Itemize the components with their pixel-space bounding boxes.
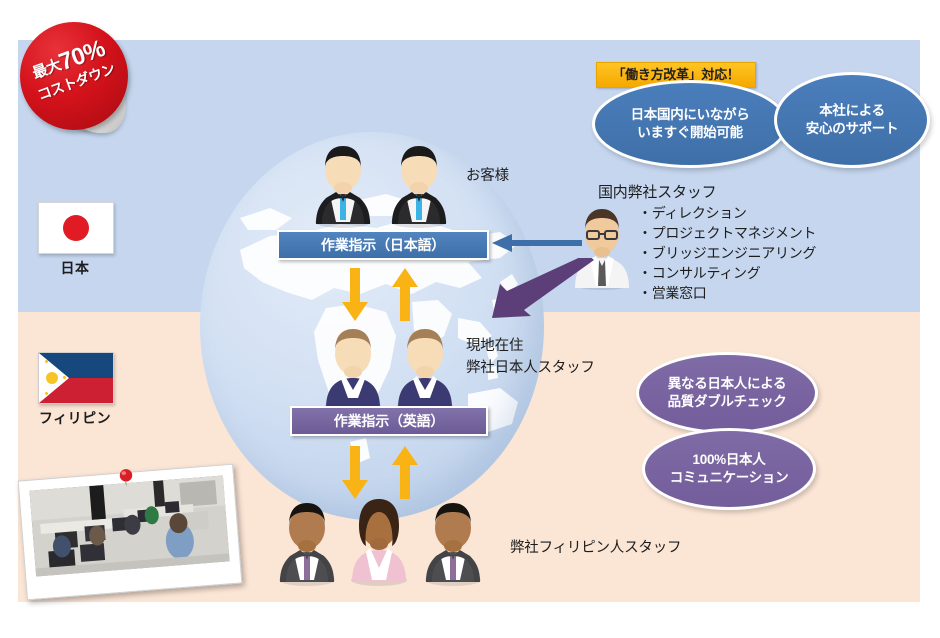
japan-flag-sun [63,215,89,241]
instruction-bar-english: 作業指示（英語） [290,406,488,436]
local-japanese-staff-1 [322,326,384,412]
arrow-down-jp-to-local [342,268,368,322]
arrow-blue-left [490,232,582,254]
callout-blue-1-line2: いますぐ開始可能 [637,125,743,140]
callout-blue-2-line2: 安心のサポート [806,121,898,136]
callout-purple-2-line1: 100%日本人 [693,452,766,467]
filipino-staff-3 [422,500,484,586]
callout-blue-2-line1: 本社による [819,103,885,118]
customer-person-2 [388,142,450,228]
callout-blue-1-line1: 日本国内にいながら [631,107,750,122]
cost-down-sticker: 最大70% コストダウン [20,22,132,134]
domestic-staff-item-3: ・コンサルティング [638,264,816,284]
ph-flag-star-2 [45,392,48,395]
arrow-up-ph-to-local [392,446,418,500]
domestic-staff-item-1: ・プロジェクトマネジメント [638,224,816,244]
office-photo-image [29,476,229,577]
local-japanese-staff-2 [394,326,456,412]
callout-purple-1: 異なる日本人による品質ダブルチェック [636,352,818,434]
local-staff-label-line1: 現地在住 [466,338,523,354]
ph-flag-star-3 [63,376,66,379]
filipino-staff-1 [276,500,338,586]
sticker-text: 最大70% コストダウン [5,7,143,145]
domestic-staff-item-0: ・ディレクション [638,204,816,224]
japan-flag-icon [38,202,114,254]
callout-purple-2-line2: コミュニケーション [670,470,789,485]
filipino-staff-2 [348,496,410,586]
red-pushpin-icon [118,468,134,488]
ph-flag-sun-icon [46,372,58,384]
callout-purple-1-line2: 品質ダブルチェック [668,394,787,409]
local-staff-label-line2: 弊社日本人スタッフ [466,360,595,376]
domestic-staff-title: 国内弊社スタッフ [598,182,716,205]
instruction-bar-japanese: 作業指示（日本語） [277,230,489,260]
arrow-down-local-to-ph [342,446,368,500]
philippines-flag-icon [38,352,114,404]
arrow-up-local-to-jp [392,268,418,322]
filipino-staff-label: 弊社フィリピン人スタッフ [510,538,681,560]
japan-label: 日本 [38,258,112,278]
callout-purple-2: 100%日本人コミュニケーション [642,428,816,510]
ph-flag-star-1 [45,360,48,363]
philippines-label: フィリピン [22,408,128,428]
domestic-staff-list: ・ディレクション ・プロジェクトマネジメント ・ブリッジエンジニアリング ・コン… [638,204,816,303]
callout-blue-1: 日本国内にいながらいますぐ開始可能 [592,80,788,168]
customer-label: お客様 [466,166,509,188]
arrow-purple-diagonal [486,258,596,320]
domestic-staff-item-2: ・ブリッジエンジニアリング [638,244,816,264]
customer-person-1 [312,142,374,228]
domestic-staff-item-4: ・営業窓口 [638,284,816,304]
callout-purple-1-line1: 異なる日本人による [668,376,786,391]
diagram-canvas: 最大70% コストダウン 日本 フィリピン 「働き方改革」対応！ 日本国内にいな… [0,0,940,638]
callout-blue-2: 本社による安心のサポート [774,72,930,168]
local-staff-label: 現地在住 弊社日本人スタッフ [466,336,595,380]
